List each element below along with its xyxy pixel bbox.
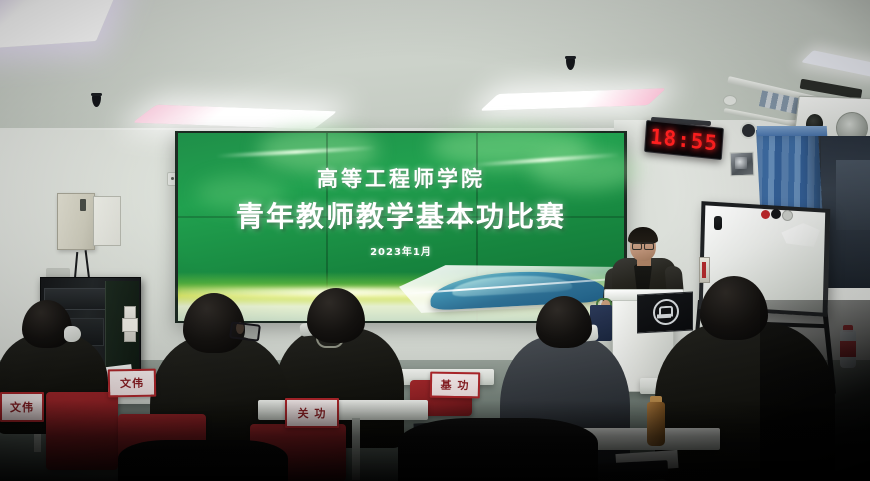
name-placard-label: 文伟 — [10, 399, 34, 415]
face-mask-icon — [64, 326, 81, 342]
notebook — [596, 460, 669, 481]
water-bottle — [647, 402, 665, 446]
foreground-person-silhouette — [118, 440, 288, 481]
rack-label — [122, 318, 138, 332]
clock-time-display: 18:55 — [649, 124, 719, 155]
marker-icon — [702, 262, 706, 278]
whiteboard-magnet-icon — [782, 210, 793, 221]
name-placard-label: 关 功 — [298, 405, 327, 421]
wall-panel-box[interactable] — [93, 196, 121, 246]
name-placard-label: 文伟 — [120, 375, 144, 391]
glasses-icon — [229, 321, 261, 342]
slide-title-primary: 高等工程师学院 — [178, 163, 624, 193]
smoke-detector-icon — [723, 95, 737, 106]
name-placard: 关 功 — [285, 398, 339, 428]
table-leg — [352, 418, 360, 480]
door-inner-panel — [836, 160, 870, 230]
wall-picture-image — [735, 157, 747, 169]
slide-date: 2023年1月 — [178, 243, 624, 258]
whiteboard-magnet-icon — [761, 210, 770, 219]
slide-title-secondary: 青年教师教学基本功比赛 — [178, 195, 624, 235]
glasses-icon — [632, 242, 654, 248]
foreground-person-silhouette — [760, 300, 870, 481]
name-placard: 基 功 — [430, 372, 480, 399]
name-placard: 文伟 — [0, 392, 44, 422]
lecture-room-photo: 高等工程师学院 青年教师教学基本功比赛 2023年1月 18:55 — [0, 0, 870, 481]
foreground-person-silhouette — [398, 418, 598, 481]
chair — [46, 392, 118, 470]
curtain-rail — [757, 126, 828, 136]
whiteboard-magnet-icon — [771, 209, 781, 219]
name-placard-label: 基 功 — [440, 377, 469, 394]
wall-control-box[interactable] — [57, 193, 95, 250]
table — [258, 400, 428, 420]
dome-camera-icon — [740, 122, 757, 139]
name-placard: 文伟 — [108, 369, 156, 398]
control-box-indicator-icon — [80, 199, 86, 211]
whiteboard-eraser-icon — [714, 216, 722, 230]
